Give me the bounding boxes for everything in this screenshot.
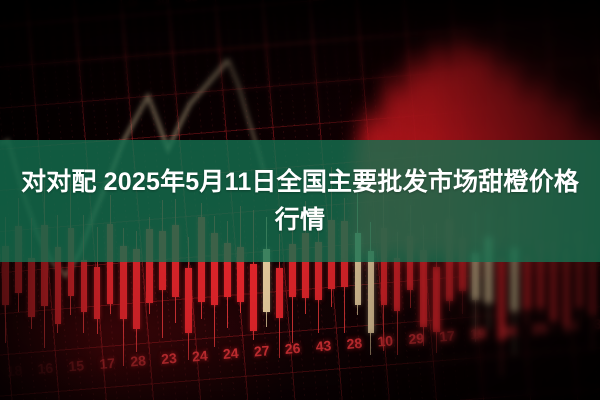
- axis-bottom-label: 29: [400, 329, 432, 347]
- axis-bottom-label: 28: [338, 334, 370, 352]
- axis-bottom-label: 27: [246, 342, 278, 360]
- axis-top-label: 38: [146, 0, 177, 8]
- banner-image: 383838382739275 181615172823242427264328…: [0, 0, 600, 400]
- axis-bottom-label: 34: [585, 314, 600, 332]
- title-band: 对对配 2025年5月11日全国主要批发市场甜橙价格行情: [0, 140, 600, 262]
- candlestick-body: [250, 264, 257, 331]
- candlestick-body: [81, 260, 88, 312]
- axis-bottom-label: 34: [493, 322, 525, 340]
- candlestick-body: [276, 268, 283, 318]
- candlestick-body: [368, 251, 375, 332]
- axis-bottom-label: 15: [60, 357, 92, 375]
- candlestick-body: [28, 258, 35, 316]
- axis-top-label: 38: [206, 0, 237, 3]
- axis-top-label: 27: [236, 0, 267, 1]
- page-title: 对对配 2025年5月11日全国主要批发市场甜橙价格行情: [20, 163, 580, 239]
- axis-bottom-label: 34: [555, 317, 587, 335]
- candlestick-body: [94, 267, 101, 319]
- axis-bottom-label: 16: [29, 359, 61, 377]
- axis-bottom-label: 17: [431, 327, 463, 345]
- candlestick-body: [563, 251, 570, 325]
- axis-bottom-label: 17: [91, 354, 123, 372]
- candlestick-body: [524, 255, 531, 309]
- axis-bottom-label: 23: [153, 349, 185, 367]
- axis-bottom-label: 19: [462, 324, 494, 342]
- axis-bottom-label: 10: [369, 332, 401, 350]
- axis-bottom-label: 28: [122, 352, 154, 370]
- axis-bottom-label: 18: [0, 362, 31, 380]
- axis-bottom-label: 25: [524, 319, 556, 337]
- candlestick-body: [433, 267, 440, 333]
- axis-bottom-label: 26: [276, 339, 308, 357]
- candlestick-body: [185, 268, 192, 333]
- axis-bottom-label: 43: [307, 337, 339, 355]
- candlestick-body: [394, 258, 401, 311]
- axis-bottom-label: 24: [184, 347, 216, 365]
- axis-top-label: 38: [116, 0, 147, 11]
- axis-bottom-label: 24: [215, 344, 247, 362]
- axis-top-label: 38: [176, 0, 207, 6]
